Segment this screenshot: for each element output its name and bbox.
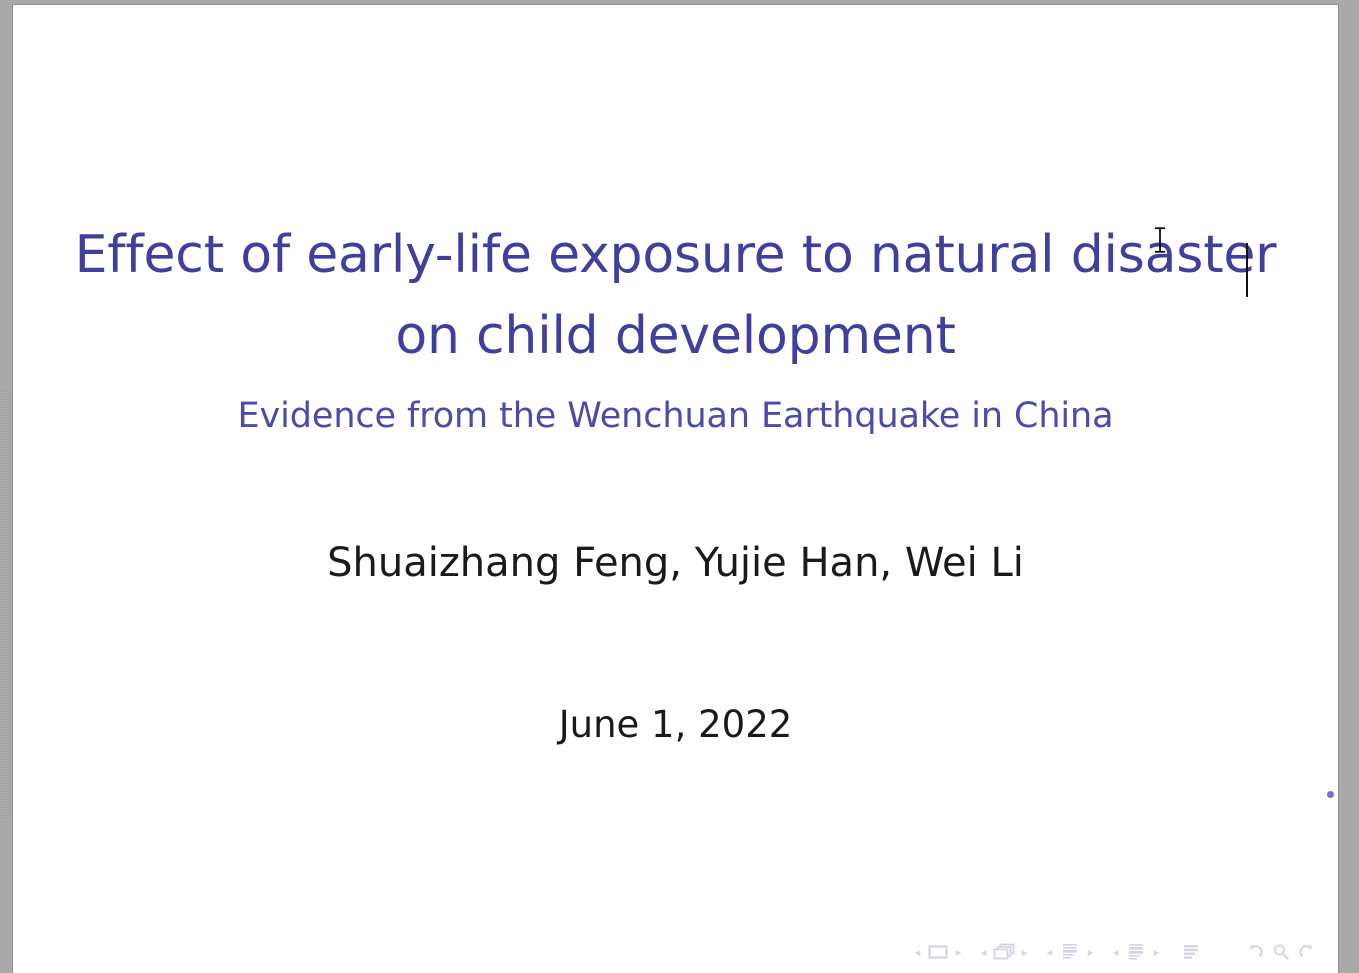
next-subsection-icon[interactable]: ▸ bbox=[1085, 941, 1096, 963]
section-lines-icon[interactable] bbox=[1121, 941, 1151, 963]
stacked-frames-icon[interactable] bbox=[989, 941, 1019, 963]
left-edge-scroll-strip[interactable] bbox=[0, 388, 11, 818]
search-icon[interactable] bbox=[1268, 941, 1294, 963]
forward-arrow-icon[interactable] bbox=[1294, 941, 1320, 963]
nav-group-presentation bbox=[1176, 941, 1206, 963]
nav-group-frame: ◂ ▸ bbox=[978, 941, 1030, 963]
slide-page[interactable]: Effect of early-life exposure to natural… bbox=[13, 5, 1338, 973]
institute-marker-dot bbox=[1327, 791, 1334, 798]
next-section-icon[interactable]: ▸ bbox=[1151, 941, 1162, 963]
prev-section-icon[interactable]: ◂ bbox=[1110, 941, 1121, 963]
nav-group-section: ◂ ▸ bbox=[1110, 941, 1162, 963]
next-slide-icon[interactable]: ▸ bbox=[953, 941, 964, 963]
back-arrow-icon[interactable] bbox=[1242, 941, 1268, 963]
presentation-icon[interactable] bbox=[1176, 941, 1206, 963]
next-frame-icon[interactable]: ▸ bbox=[1019, 941, 1030, 963]
prev-subsection-icon[interactable]: ◂ bbox=[1044, 941, 1055, 963]
title-line-2: on child development bbox=[13, 296, 1338, 377]
title-line-1: Effect of early-life exposure to natural… bbox=[13, 215, 1338, 296]
authors-line: Shuaizhang Feng, Yujie Han, Wei Li bbox=[13, 536, 1338, 590]
pdf-viewer-canvas: Effect of early-life exposure to natural… bbox=[0, 0, 1359, 973]
prev-frame-icon[interactable]: ◂ bbox=[978, 941, 989, 963]
prev-slide-icon[interactable]: ◂ bbox=[912, 941, 923, 963]
beamer-navigation-bar[interactable]: ◂ ▸ ◂ ▸ bbox=[912, 939, 1320, 965]
nav-group-subsection: ◂ ▸ bbox=[1044, 941, 1096, 963]
nav-tools-group bbox=[1242, 941, 1320, 963]
subsection-lines-icon[interactable] bbox=[1055, 941, 1085, 963]
title-block: Effect of early-life exposure to natural… bbox=[13, 215, 1338, 447]
slide-frame-icon[interactable] bbox=[923, 941, 953, 963]
text-caret bbox=[1246, 243, 1248, 297]
nav-group-slide: ◂ ▸ bbox=[912, 941, 964, 963]
slide-subtitle: Evidence from the Wenchuan Earthquake in… bbox=[13, 385, 1338, 447]
date-line: June 1, 2022 bbox=[13, 700, 1338, 750]
